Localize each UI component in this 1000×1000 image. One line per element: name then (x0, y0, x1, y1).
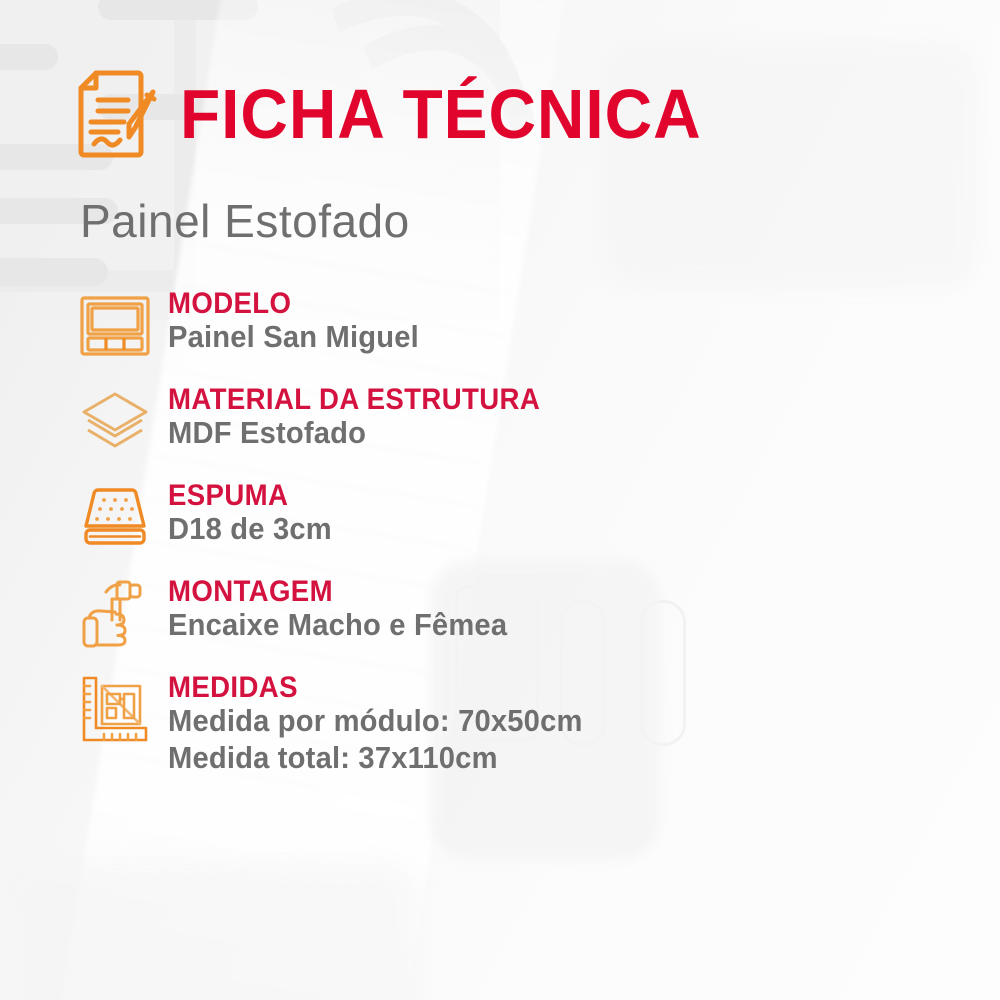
spec-label: MATERIAL DA ESTRUTURA (168, 384, 540, 415)
spec-row-montagem: MONTAGEM Encaixe Macho e Fêmea (76, 572, 816, 652)
spec-row-espuma: ESPUMA D18 de 3cm (76, 476, 816, 556)
spec-label: MONTAGEM (168, 576, 500, 607)
spec-value: Medida por módulo: 70x50cm (168, 703, 583, 740)
spec-label: MEDIDAS (168, 672, 574, 703)
spec-value: D18 de 3cm (168, 511, 332, 548)
spec-sheet-page: FICHA TÉCNICA Painel Estofado (0, 0, 1000, 1000)
layers-icon (76, 382, 154, 460)
page-title: FICHA TÉCNICA (180, 79, 702, 149)
product-subtitle: Painel Estofado (80, 198, 410, 244)
spec-label: ESPUMA (168, 480, 328, 511)
spec-row-material: MATERIAL DA ESTRUTURA MDF Estofado (76, 380, 816, 460)
spec-value: Painel San Miguel (168, 319, 419, 356)
foam-mattress-icon (76, 478, 154, 556)
spec-value: Encaixe Macho e Fêmea (168, 607, 507, 644)
header: FICHA TÉCNICA (74, 66, 735, 162)
spec-row-modelo: MODELO Painel San Miguel (76, 284, 816, 364)
spec-label: MODELO (168, 288, 414, 319)
document-pen-icon (74, 66, 160, 162)
spec-value: MDF Estofado (168, 415, 548, 452)
blueprint-ruler-icon (76, 670, 154, 748)
spec-row-medidas: MEDIDAS Medida por módulo: 70x50cm Medid… (76, 668, 816, 776)
spec-value: Medida total: 37x110cm (168, 740, 583, 777)
spec-list: MODELO Painel San Miguel MATERIAL DA EST… (76, 284, 816, 792)
hand-hammer-icon (76, 574, 154, 652)
tv-panel-icon (76, 286, 154, 364)
